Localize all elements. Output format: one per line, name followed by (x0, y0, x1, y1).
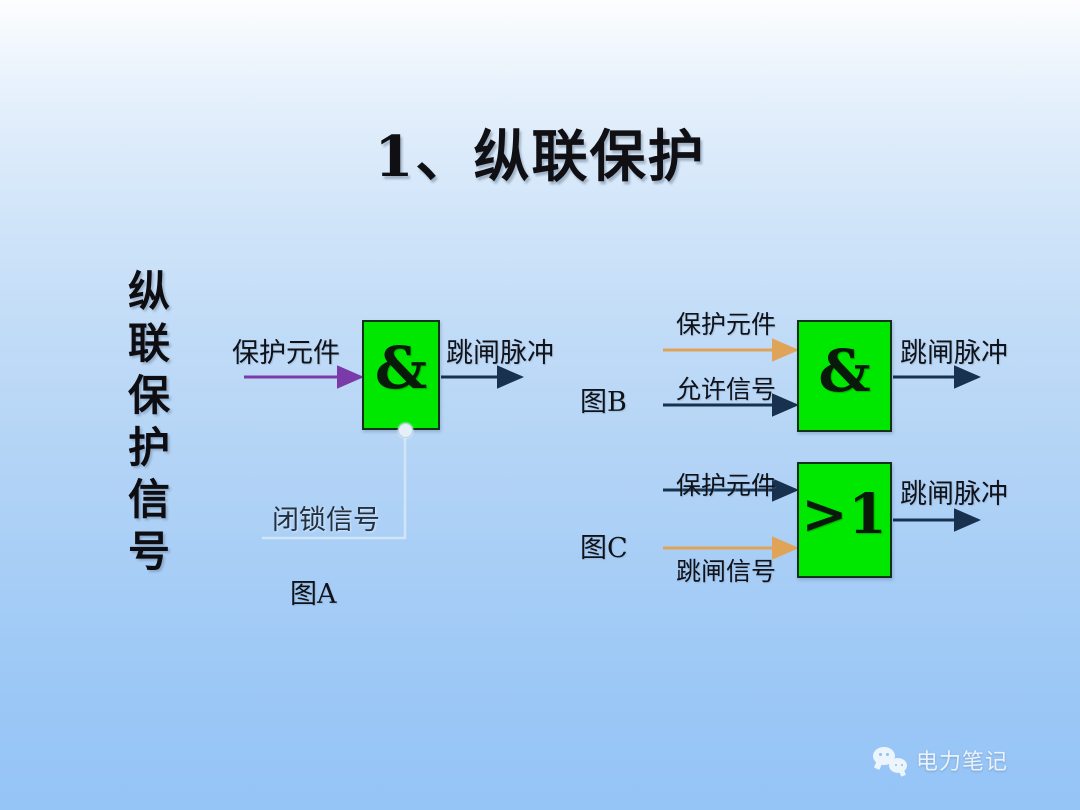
label-c-input-trip-signal: 跳闸信号 (676, 552, 776, 588)
figure-label-b: 图B (580, 380, 627, 419)
figure-label-a: 图A (290, 572, 337, 611)
and-gate-b: & (797, 320, 892, 432)
vertical-caption-char: 联 (112, 318, 186, 370)
wechat-icon (873, 747, 907, 773)
label-c-input-protection: 保护元件 (676, 466, 776, 502)
watermark: 电力笔记 (873, 744, 1008, 776)
vertical-caption-char: 号 (112, 526, 186, 578)
figure-label-c: 图C (580, 526, 628, 565)
negation-bubble-a (398, 423, 413, 438)
gate-glyph: & (375, 339, 427, 397)
vertical-caption-char: 纵 (112, 266, 186, 318)
vertical-caption-char: 保 (112, 370, 186, 422)
label-a-output-trip: 跳闸脉冲 (446, 331, 554, 370)
vertical-caption-char: 信 (112, 474, 186, 526)
slide-canvas: 1、纵联保护 纵 联 保 护 信 号 & 保护元件 跳闸脉冲 闭锁信号 图A &… (0, 0, 1080, 810)
or-gate-c: >1 (797, 462, 892, 578)
label-c-output-trip: 跳闸脉冲 (900, 472, 1008, 511)
label-b-output-trip: 跳闸脉冲 (900, 331, 1008, 370)
gate-glyph: & (818, 342, 870, 400)
vertical-caption-char: 护 (112, 422, 186, 474)
label-b-input-protection: 保护元件 (676, 305, 776, 341)
label-a-blocking-signal: 闭锁信号 (272, 498, 380, 537)
gate-glyph: >1 (801, 486, 887, 541)
label-a-input-protection: 保护元件 (232, 331, 340, 370)
vertical-caption: 纵 联 保 护 信 号 (112, 266, 186, 578)
and-gate-a: & (362, 320, 440, 430)
page-title: 1、纵联保护 (0, 112, 1080, 193)
label-b-input-permissive: 允许信号 (676, 370, 776, 406)
watermark-text: 电力笔记 (916, 744, 1008, 776)
